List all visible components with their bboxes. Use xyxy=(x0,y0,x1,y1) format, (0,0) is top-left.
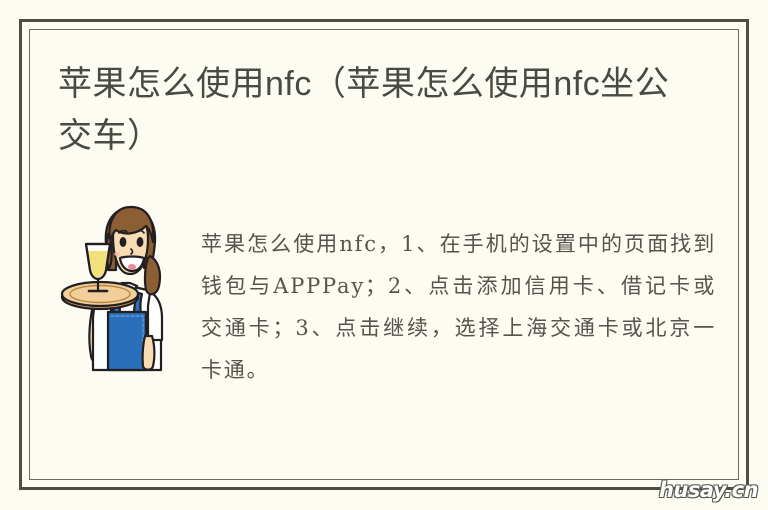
waitress-with-tray-illustration xyxy=(58,194,183,384)
article-card: 苹果怎么使用nfc（苹果怎么使用nfc坐公交车） xyxy=(19,19,749,490)
page-title: 苹果怎么使用nfc（苹果怎么使用nfc坐公交车） xyxy=(58,58,688,162)
article-content: 苹果怎么使用nfc，1、在手机的设置中的页面找到钱包与APPPay；2、点击添加… xyxy=(58,194,716,412)
site-watermark: husay.cn xyxy=(659,478,758,502)
tongue xyxy=(128,264,136,270)
apron-body xyxy=(108,312,146,370)
title-block: 苹果怎么使用nfc（苹果怎么使用nfc坐公交车） xyxy=(58,58,688,162)
blush-left xyxy=(114,252,120,256)
right-arm xyxy=(143,336,155,370)
left-eye xyxy=(120,237,127,247)
right-eye xyxy=(137,237,144,247)
article-body-text: 苹果怎么使用nfc，1、在手机的设置中的页面找到钱包与APPPay；2、点击添加… xyxy=(201,215,716,391)
ponytail xyxy=(145,256,160,294)
right-sleeve xyxy=(148,292,162,340)
